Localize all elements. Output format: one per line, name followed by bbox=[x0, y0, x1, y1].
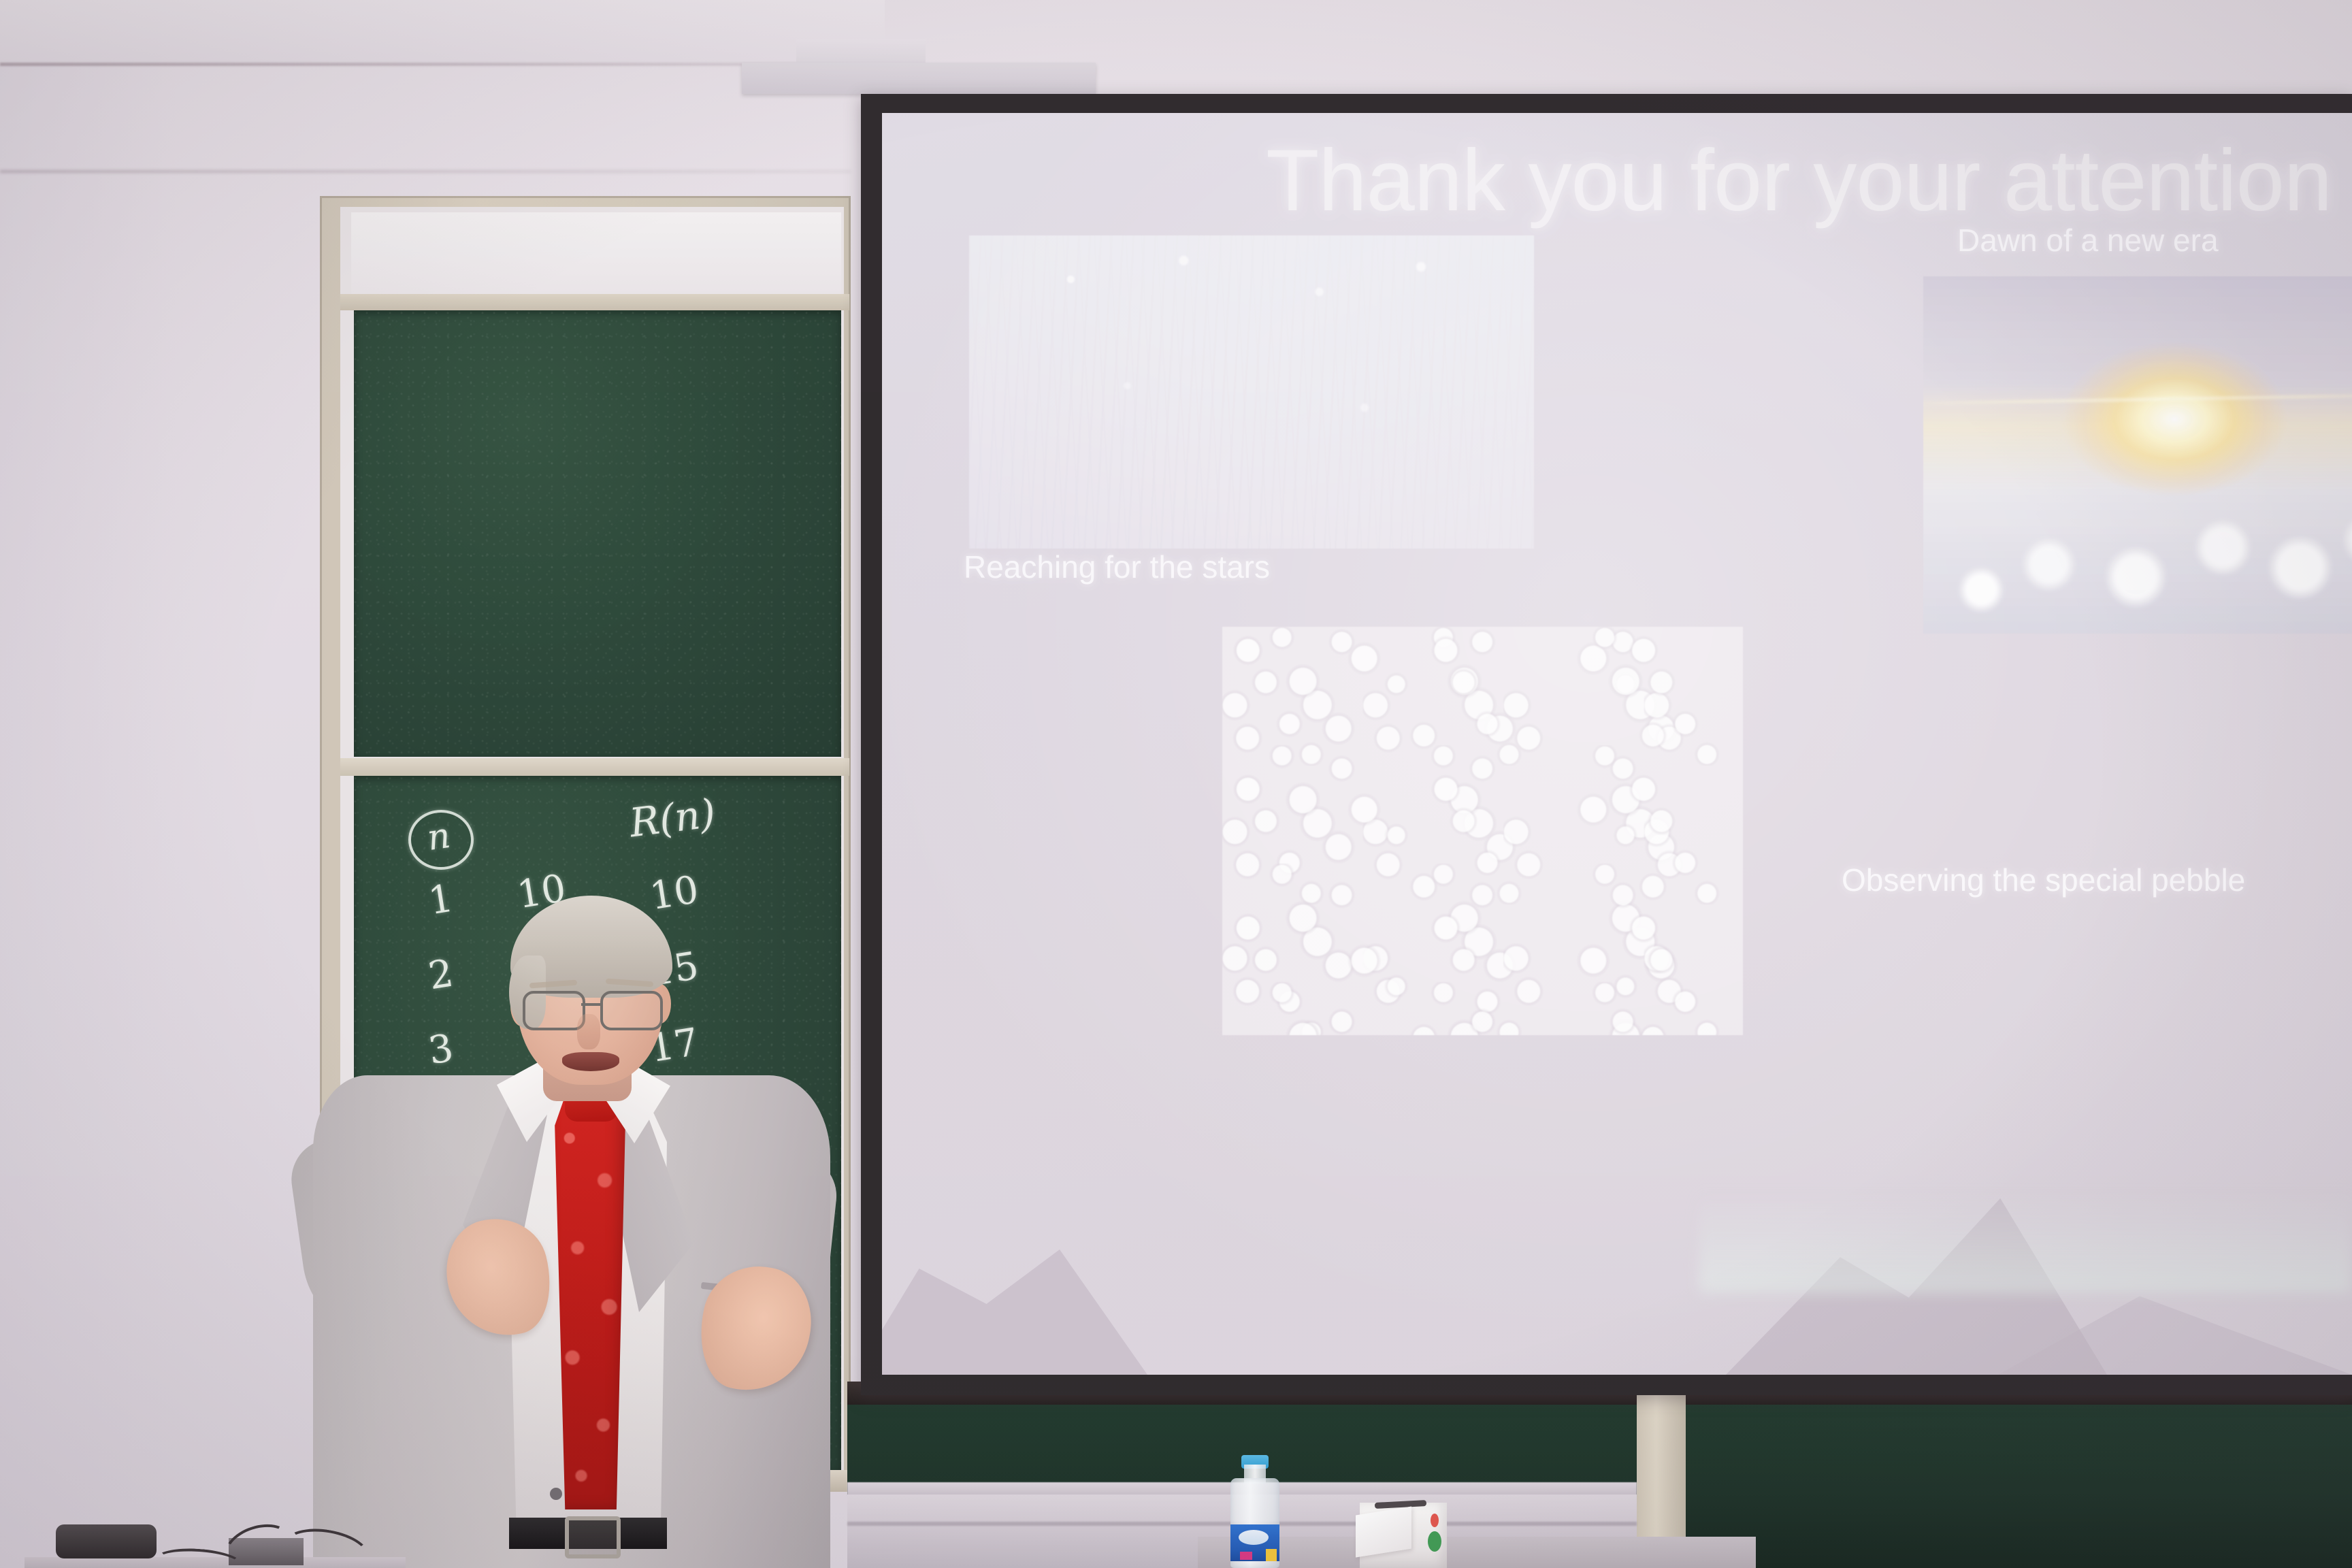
glasses-lens-right bbox=[600, 991, 663, 1030]
speaker-shirt-button bbox=[550, 1488, 562, 1500]
slide-caption-dawn: Dawn of a new era bbox=[1957, 222, 2219, 259]
glasses-lens-left bbox=[523, 991, 585, 1030]
speaker bbox=[293, 905, 857, 1568]
chalkboard-rail-upper bbox=[340, 294, 849, 310]
ceiling-soffit bbox=[0, 0, 885, 65]
slide-caption-stars: Reaching for the stars bbox=[964, 549, 1270, 585]
speaker-mouth bbox=[562, 1052, 619, 1071]
chalkboard-panel-upper bbox=[354, 310, 841, 757]
speaker-nose bbox=[577, 1014, 600, 1049]
wall-seam-line bbox=[0, 170, 851, 173]
tissue-box bbox=[1360, 1496, 1447, 1568]
tissue-box-logo-green bbox=[1428, 1531, 1441, 1552]
speaker-belt-buckle bbox=[565, 1516, 621, 1558]
slide-image-pebbles bbox=[1222, 627, 1743, 1035]
glasses-bridge bbox=[581, 1003, 603, 1006]
tissue-box-logo-red bbox=[1431, 1514, 1439, 1527]
forest-light-sparkles bbox=[969, 235, 1534, 549]
bottle-label bbox=[1230, 1524, 1279, 1561]
av-equipment-table bbox=[24, 1518, 406, 1568]
speaker-tie bbox=[553, 1088, 627, 1509]
chalk-dust-texture bbox=[354, 310, 841, 757]
screen-housing bbox=[742, 63, 1096, 94]
projection-screen: Thank you for your attention Reaching fo… bbox=[882, 113, 2352, 1375]
slide-title: Thank you for your attention bbox=[1018, 133, 2332, 229]
chalkboard-top-white-panel bbox=[351, 212, 841, 294]
slide-caption-pebble: Observing the special pebble bbox=[1842, 862, 2245, 898]
water-bottle bbox=[1230, 1455, 1279, 1568]
earth-limb-glow bbox=[1923, 393, 2352, 405]
tissue-box-flap bbox=[1356, 1507, 1411, 1558]
bottle-label-emblem bbox=[1239, 1530, 1269, 1545]
bottle-label-accent-pink bbox=[1240, 1552, 1252, 1560]
slide-image-sunrise bbox=[1923, 276, 2352, 634]
slide-image-forest bbox=[969, 235, 1534, 549]
bottle-label-accent-yellow bbox=[1266, 1549, 1277, 1561]
cloud-layer bbox=[1923, 477, 2352, 634]
mountain-silhouette-left bbox=[882, 1239, 1147, 1375]
slide-background-haze bbox=[1699, 1191, 2352, 1293]
lecture-photo-scene: n R(n) 1 2 3 ⋮ 10 10 15 17 ⋮ Thank you f… bbox=[0, 0, 2352, 1568]
desk-surface bbox=[1198, 1537, 1756, 1568]
projector-unit bbox=[56, 1524, 157, 1558]
chalkboard-rail-middle bbox=[340, 758, 849, 776]
wall-left-shading bbox=[0, 0, 177, 1568]
